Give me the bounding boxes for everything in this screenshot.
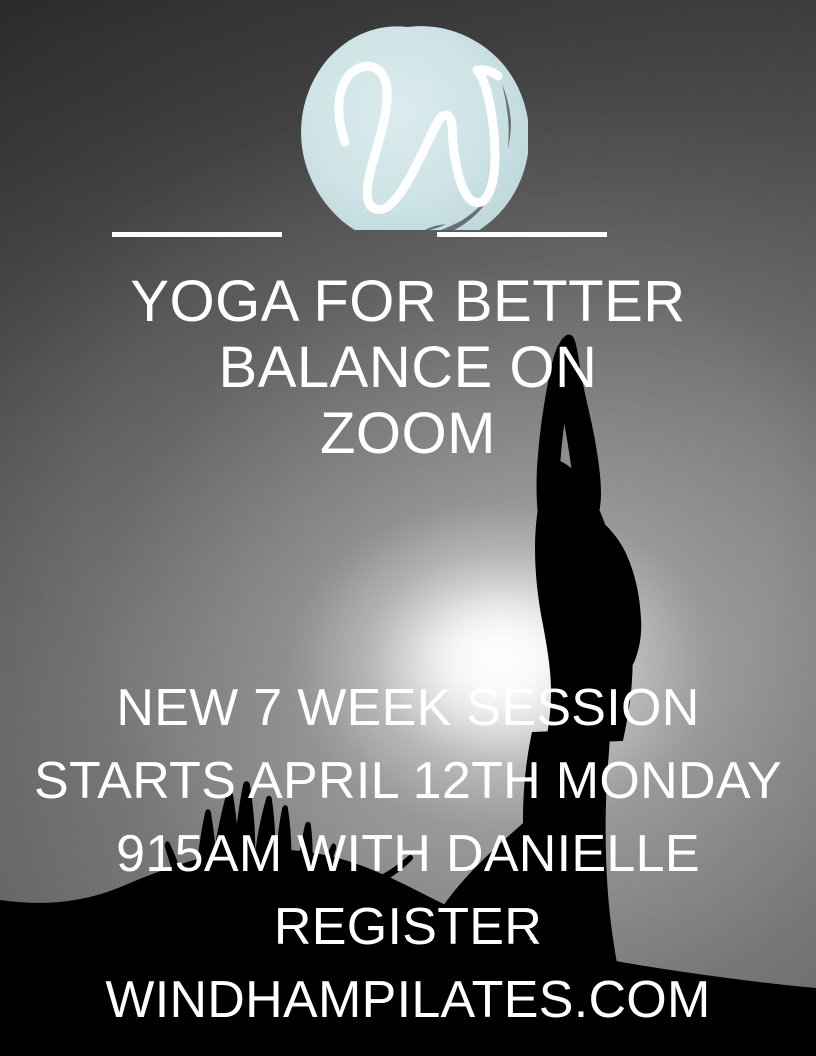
page-title: YOGA FOR BETTER BALANCE ON ZOOM bbox=[0, 269, 816, 467]
detail-line-startdate: STARTS APRIL 12TH MONDAY bbox=[0, 745, 816, 818]
detail-line-register: REGISTER bbox=[0, 891, 816, 964]
detail-line-time: 915AM WITH DANIELLE bbox=[0, 818, 816, 891]
poster-canvas: YOGA FOR BETTER BALANCE ON ZOOM NEW 7 WE… bbox=[0, 0, 816, 1056]
logo-svg bbox=[296, 24, 528, 230]
brand-logo bbox=[296, 24, 528, 230]
class-details: NEW 7 WEEK SESSION STARTS APRIL 12TH MON… bbox=[0, 672, 816, 1037]
divider-rule-left bbox=[112, 232, 282, 237]
divider-rule-right bbox=[437, 232, 607, 237]
detail-line-website: WINDHAMPILATES.COM bbox=[0, 964, 816, 1037]
detail-line-session: NEW 7 WEEK SESSION bbox=[0, 672, 816, 745]
